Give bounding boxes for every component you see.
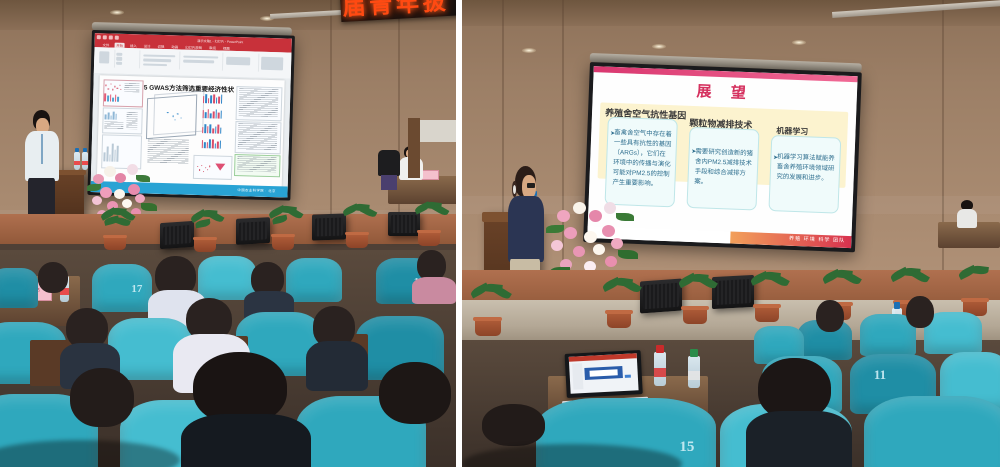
column-body-2: 需要研究创造新的猪舍内PM2.5减排技术手段和综合减排方案。 xyxy=(694,147,753,189)
potted-plant xyxy=(678,274,712,324)
audience-member xyxy=(244,262,294,318)
screenshot-root: 届青年拔 演示文稿1 - 幻灯片 - PowerPoint 文件 开始 插入 设… xyxy=(0,0,1000,467)
audience-chair xyxy=(864,396,1000,467)
column-card-3: ➤ 机器学习算法赋能养畜舍养殖环境领域研究的发展和进步。 xyxy=(768,135,841,214)
right-photo: 届青 展 望 养殖舍空气抗性基因 ➤ 畜禽舍空气中存在着一些具有抗性的基因（AR… xyxy=(462,0,1000,467)
audience-chair xyxy=(286,258,342,302)
audience-member xyxy=(956,200,978,228)
potted-plant xyxy=(750,272,784,322)
ppt-title-text: 演示文稿1 - 幻灯片 - PowerPoint xyxy=(197,38,243,44)
potted-plant xyxy=(602,278,636,328)
column-body-3: 机器学习算法赋能养畜舍养殖环境领域研究的发展和进步。 xyxy=(776,152,835,184)
triangle-marker xyxy=(216,163,226,170)
left-photo: 届青年拔 演示文稿1 - 幻灯片 - PowerPoint 文件 开始 插入 设… xyxy=(0,0,456,467)
water-bottle xyxy=(654,352,666,386)
ceiling-right xyxy=(462,0,1000,26)
audience-chair: 17 xyxy=(92,264,152,312)
potted-plant xyxy=(958,266,992,316)
glasses-icon xyxy=(527,183,535,189)
grouped-bars-3 xyxy=(202,123,222,133)
audience-member xyxy=(900,296,944,352)
legend-bars xyxy=(104,94,119,102)
audience-member xyxy=(186,352,304,467)
grouped-bars-4 xyxy=(201,138,221,148)
audience-member xyxy=(32,262,78,312)
violin-points xyxy=(196,162,211,173)
grouped-bars-2 xyxy=(202,108,222,118)
potted-plant xyxy=(342,204,372,248)
ceiling-light xyxy=(652,44,666,49)
ceiling-light xyxy=(110,10,124,15)
stage-monitor xyxy=(160,221,194,249)
audience-member xyxy=(810,300,854,356)
panel-divider xyxy=(456,0,462,467)
chair-number: 17 xyxy=(131,283,142,295)
audience-member xyxy=(306,306,366,386)
slide-footer-text: 养殖 环境 科学 团队 xyxy=(789,235,846,244)
laptop-lid xyxy=(565,350,643,398)
column-card-1: ➤ 畜禽舍空气中存在着一些具有抗性的基因（ARGs），它们在环境中的传播与演化可… xyxy=(604,117,678,208)
chair-number: 11 xyxy=(874,367,886,383)
water-bottle xyxy=(688,356,700,388)
stage-monitor xyxy=(712,275,754,309)
stage-monitor xyxy=(312,213,346,240)
slide-footer-bar: 养殖 环境 科学 团队 xyxy=(730,231,852,248)
potted-plant xyxy=(470,284,506,336)
ceiling-light xyxy=(792,40,806,45)
water-bottle xyxy=(74,152,80,170)
presenter-top xyxy=(508,196,545,263)
ceiling-light xyxy=(522,48,536,53)
audience-member xyxy=(372,362,456,467)
potted-plant xyxy=(100,208,130,250)
laptop-screen xyxy=(569,353,639,394)
potted-plant xyxy=(268,206,298,250)
stage-monitor xyxy=(640,279,682,314)
potted-plant xyxy=(414,202,444,246)
audience-member xyxy=(750,358,846,467)
office-chair xyxy=(378,150,400,190)
manhattan-points xyxy=(105,82,122,92)
cube-points xyxy=(165,109,184,122)
grouped-bars-1 xyxy=(203,93,223,103)
ppt-status-text: 中国农业科学院 · 北京 xyxy=(237,187,275,193)
stage-monitor xyxy=(236,217,270,245)
chair-number: 15 xyxy=(679,439,694,456)
potted-plant xyxy=(190,210,220,252)
audience-member xyxy=(412,250,456,302)
column-body-1: 畜禽舍空气中存在着一些具有抗性的基因（ARGs），它们在环境中的传播与演化可能对… xyxy=(612,128,672,190)
column-card-2: ➤ 需要研究创造新的猪舍内PM2.5减排技术手段和综合减排方案。 xyxy=(686,127,760,211)
